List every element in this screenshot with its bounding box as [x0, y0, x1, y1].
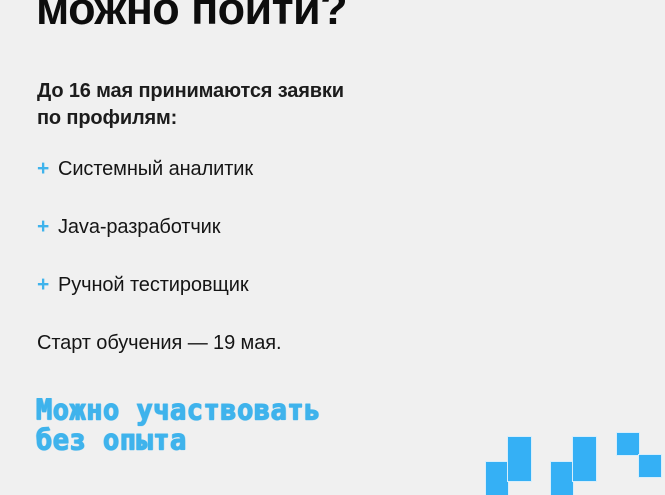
decorative-block — [573, 437, 596, 481]
list-item: + Java-разработчик — [37, 216, 457, 274]
decorative-block — [551, 462, 573, 495]
intro-line-1: До 16 мая принимаются заявки — [37, 78, 344, 105]
decorative-block — [486, 462, 508, 495]
list-item-label: Java-разработчик — [58, 217, 220, 237]
list-item-label: Ручной тестировщик — [58, 275, 249, 295]
intro-paragraph: До 16 мая принимаются заявки по профилям… — [37, 78, 344, 132]
start-date-text: Старт обучения — 19 мая. — [37, 333, 281, 353]
intro-line-2: по профилям: — [37, 105, 344, 132]
list-item-label: Системный аналитик — [58, 159, 253, 179]
plus-icon: + — [37, 216, 58, 237]
decorative-block — [508, 437, 531, 481]
list-item: + Системный аналитик — [37, 158, 457, 216]
list-item: + Ручной тестировщик — [37, 274, 457, 332]
page-title: можно пойти? — [36, 0, 347, 35]
pixel-headline-line-2: без опыта — [36, 425, 321, 457]
plus-icon: + — [37, 158, 58, 179]
pixel-headline-line-1: Можно участвовать — [36, 395, 321, 427]
plus-icon: + — [37, 274, 58, 295]
promo-slide: можно пойти? До 16 мая принимаются заявк… — [0, 0, 665, 495]
profiles-list: + Системный аналитик + Java-разработчик … — [37, 158, 457, 332]
decorative-block — [639, 455, 661, 477]
decorative-block — [617, 433, 639, 455]
pixel-headline: Можно участвовать без опыта — [36, 395, 321, 455]
